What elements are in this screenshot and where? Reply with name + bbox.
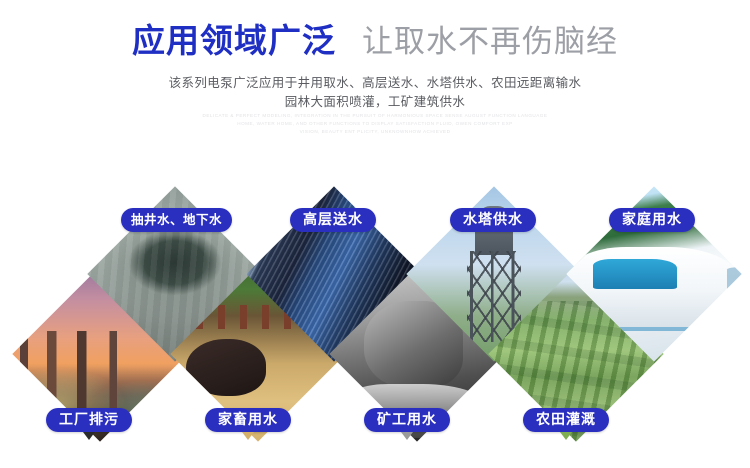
promo-banner: 应用领域广泛 让取水不再伤脑经 该系列电泵广泛应用于井用取水、高层送水、水塔供水… xyxy=(0,0,750,468)
label-tower[interactable]: 水塔供水 xyxy=(450,208,536,232)
diamond-gallery: 抽井水、地下水 高层送水 水塔供水 家庭用水 工厂排污 家畜用水 矿工用水 农田… xyxy=(0,150,750,468)
english-line-2: HOME, WATER HOME, AND OTHER FUNCTIONS TO… xyxy=(0,120,750,128)
description-block: 该系列电泵广泛应用于井用取水、高层送水、水塔供水、农田远距离输水 园林大面积喷灌… xyxy=(0,74,750,112)
label-pig[interactable]: 家畜用水 xyxy=(205,408,291,432)
english-line-3: VISION, BEAUTY ENT PLICITY, UNKNOWNHOW A… xyxy=(0,128,750,136)
label-miner[interactable]: 矿工用水 xyxy=(364,408,450,432)
label-factory[interactable]: 工厂排污 xyxy=(46,408,132,432)
label-building[interactable]: 高层送水 xyxy=(290,208,376,232)
description-line-1: 该系列电泵广泛应用于井用取水、高层送水、水塔供水、农田远距离输水 xyxy=(0,74,750,93)
english-line-1: DELICATE & PERFECT MODELING, INTEGRATION… xyxy=(0,112,750,120)
page-subtitle: 让取水不再伤脑经 xyxy=(362,26,618,57)
label-field[interactable]: 农田灌溉 xyxy=(523,408,609,432)
english-watermark-block: DELICATE & PERFECT MODELING, INTEGRATION… xyxy=(0,112,750,136)
description-line-2: 园林大面积喷灌，工矿建筑供水 xyxy=(0,93,750,112)
title-row: 应用领域广泛 让取水不再伤脑经 xyxy=(0,24,750,57)
banner-header: 应用领域广泛 让取水不再伤脑经 该系列电泵广泛应用于井用取水、高层送水、水塔供水… xyxy=(0,0,750,150)
page-title: 应用领域广泛 xyxy=(132,24,336,57)
label-car[interactable]: 家庭用水 xyxy=(609,208,695,232)
label-well[interactable]: 抽井水、地下水 xyxy=(121,208,232,232)
